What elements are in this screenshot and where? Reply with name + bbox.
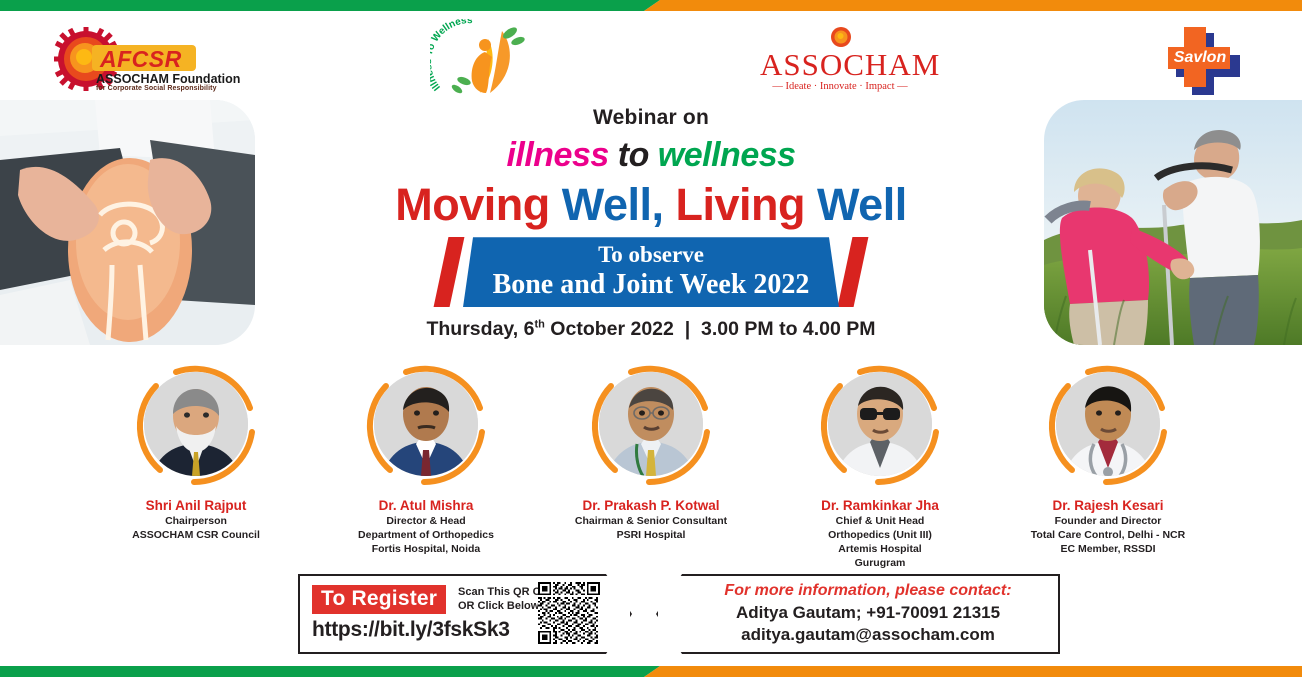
speaker-role-3-0: Chairman & Senior Consultant xyxy=(535,515,767,528)
speaker-avatar-1 xyxy=(144,372,248,476)
speaker-role-4-2: Artemis Hospital xyxy=(764,543,996,556)
speaker-photo-frame-1 xyxy=(130,358,262,490)
speaker-card-4: Dr. Ramkinkar Jha Chief & Unit Head Orth… xyxy=(764,352,996,570)
brand-to-word: to xyxy=(618,136,649,174)
speaker-name-3: Dr. Prakash P. Kotwal xyxy=(535,498,767,514)
speaker-avatar-5 xyxy=(1056,372,1160,476)
speaker-name-4: Dr. Ramkinkar Jha xyxy=(764,498,996,514)
savlon-logo: Savlon xyxy=(1166,25,1258,97)
assocham-wordmark: ASSOCHAM xyxy=(760,47,920,83)
banner-right-slash xyxy=(838,237,869,307)
speaker-avatar-3 xyxy=(599,372,703,476)
speaker-role-4-0: Chief & Unit Head xyxy=(764,515,996,528)
observance-prefix: To observe xyxy=(463,242,839,268)
illness-to-wellness-emblem-icon: Illness To Wellness xyxy=(430,19,526,103)
event-date-suffix: October 2022 xyxy=(545,318,674,340)
speaker-role-4-3: Gurugram xyxy=(764,557,996,570)
contact-panel: For more information, please contact: Ad… xyxy=(656,574,1056,650)
portrait-icon-4 xyxy=(828,372,932,476)
assocham-sun-icon xyxy=(830,25,852,49)
banner-left-slash xyxy=(434,237,465,307)
title-word-living: Living xyxy=(676,179,806,230)
webinar-on-label: Webinar on xyxy=(261,106,1041,130)
afcsr-logo: AFCSR ASSOCHAM Foundation for Corporate … xyxy=(48,23,198,95)
stripe-orange-segment xyxy=(644,0,1302,11)
bottom-border-stripe xyxy=(0,666,1302,677)
register-panel[interactable]: To Register Scan This QR Code OR Click B… xyxy=(298,574,628,650)
knee-joint-photo xyxy=(0,100,255,345)
illness-to-wellness-logo: Illness To Wellness xyxy=(430,19,526,103)
event-datetime: Thursday, 6th October 2022 | 3.00 PM to … xyxy=(261,318,1041,341)
speaker-role-2-0: Director & Head xyxy=(310,515,542,528)
assocham-logo: ASSOCHAM — Ideate · Innovate · Impact — xyxy=(760,25,920,97)
speaker-name-1: Shri Anil Rajput xyxy=(80,498,312,514)
stripe-orange-segment xyxy=(644,666,1302,677)
to-register-badge: To Register xyxy=(312,585,446,614)
knee-joint-illustration-icon xyxy=(0,100,255,345)
header-logo-bar: AFCSR ASSOCHAM Foundation for Corporate … xyxy=(0,11,1302,100)
speaker-role-4-1: Orthopedics (Unit III) xyxy=(764,529,996,542)
afcsr-acronym: AFCSR xyxy=(100,46,182,73)
speaker-role-5-2: EC Member, RSSDI xyxy=(992,543,1224,556)
hiking-couple-illustration-icon xyxy=(1044,100,1302,345)
speaker-card-2: Dr. Atul Mishra Director & Head Departme… xyxy=(310,352,542,556)
speaker-photo-frame-4 xyxy=(814,358,946,490)
registration-link[interactable]: https://bit.ly/3fskSk3 xyxy=(312,618,510,642)
speaker-name-5: Dr. Rajesh Kesari xyxy=(992,498,1224,514)
contact-heading: For more information, please contact: xyxy=(690,582,1046,600)
contact-email[interactable]: aditya.gautam@assocham.com xyxy=(690,625,1046,645)
speaker-list: Shri Anil Rajput Chairperson ASSOCHAM CS… xyxy=(0,352,1302,557)
title-word-moving: Moving xyxy=(395,179,549,230)
observance-banner-box: To observe Bone and Joint Week 2022 xyxy=(463,237,839,307)
speaker-card-5: Dr. Rajesh Kesari Founder and Director T… xyxy=(992,352,1224,556)
brand-illness-word: illness xyxy=(506,136,608,174)
portrait-icon-1 xyxy=(144,372,248,476)
afcsr-acronym-band: AFCSR xyxy=(92,45,196,71)
speaker-role-3-1: PSRI Hospital xyxy=(535,529,767,542)
title-word-well-2: Well xyxy=(817,179,907,230)
portrait-icon-3 xyxy=(599,372,703,476)
stripe-green-segment xyxy=(0,666,660,677)
stripe-green-segment xyxy=(0,0,660,11)
event-time: 3.00 PM to 4.00 PM xyxy=(701,318,875,340)
speaker-role-5-0: Founder and Director xyxy=(992,515,1224,528)
datetime-separator: | xyxy=(685,318,690,340)
speaker-card-3: Dr. Prakash P. Kotwal Chairman & Senior … xyxy=(535,352,767,542)
savlon-wordmark: Savlon xyxy=(1169,47,1231,69)
senior-couple-hiking-photo xyxy=(1044,100,1302,345)
portrait-icon-2 xyxy=(374,372,478,476)
speaker-avatar-4 xyxy=(828,372,932,476)
speaker-photo-frame-5 xyxy=(1042,358,1174,490)
contact-person: Aditya Gautam; +91-70091 21315 xyxy=(690,603,1046,623)
page-title: Moving Well, Living Well xyxy=(261,181,1041,228)
afcsr-subtitle-line: for Corporate Social Responsibility xyxy=(96,85,217,92)
speaker-avatar-2 xyxy=(374,372,478,476)
speaker-card-1: Shri Anil Rajput Chairperson ASSOCHAM CS… xyxy=(80,352,312,542)
speaker-name-2: Dr. Atul Mishra xyxy=(310,498,542,514)
speaker-role-1-1: ASSOCHAM CSR Council xyxy=(80,529,312,542)
afcsr-foundation-line: ASSOCHAM Foundation xyxy=(96,72,240,86)
observance-banner: To observe Bone and Joint Week 2022 xyxy=(441,237,861,307)
assocham-tagline: — Ideate · Innovate · Impact — xyxy=(760,81,920,92)
illness-to-wellness-brand-line: illness to wellness xyxy=(261,136,1041,175)
speaker-photo-frame-2 xyxy=(360,358,492,490)
observance-event-name: Bone and Joint Week 2022 xyxy=(463,269,839,301)
event-date-ordinal: th xyxy=(535,319,545,331)
speaker-photo-frame-3 xyxy=(585,358,717,490)
contact-details: For more information, please contact: Ad… xyxy=(690,582,1046,645)
hero-content: Webinar on illness to wellness Moving We… xyxy=(261,100,1041,350)
qr-code-icon[interactable] xyxy=(538,582,600,644)
speaker-role-5-1: Total Care Control, Delhi - NCR xyxy=(992,529,1224,542)
speaker-role-1-0: Chairperson xyxy=(80,515,312,528)
speaker-role-2-1: Department of Orthopedics xyxy=(310,529,542,542)
speaker-role-2-2: Fortis Hospital, Noida xyxy=(310,543,542,556)
title-word-well-1: Well, xyxy=(562,179,664,230)
top-border-stripe xyxy=(0,0,1302,11)
event-date-prefix: Thursday, 6 xyxy=(426,318,534,340)
portrait-icon-5 xyxy=(1056,372,1160,476)
brand-wellness-word: wellness xyxy=(658,136,796,174)
